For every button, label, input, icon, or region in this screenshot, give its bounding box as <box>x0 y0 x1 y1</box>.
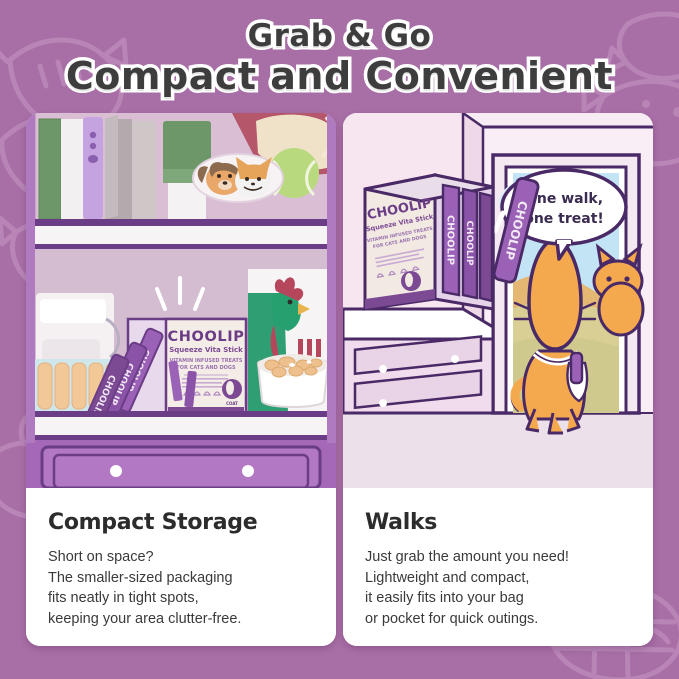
kitchen-shelf-scene: CHOOLIP Squeeze Vita Stick VITAMIN INFUS… <box>26 113 336 488</box>
headline-line-2: Compact and Convenient <box>0 54 679 98</box>
doorway-walk-scene: One walk, one treat! <box>343 113 653 488</box>
card-body: Short on space? The smaller-sized packag… <box>48 547 314 629</box>
svg-text:CHOOLIP: CHOOLIP <box>464 220 474 266</box>
card-title: Compact Storage <box>48 510 314 535</box>
headline: Grab & Go Compact and Convenient <box>0 18 679 98</box>
svg-text:CHOOLIP: CHOOLIP <box>168 329 245 345</box>
svg-text:COAT: COAT <box>226 401 238 406</box>
card-body: Just grab the amount you need! Lightweig… <box>365 547 631 629</box>
caption-compact-storage: Compact Storage Short on space? The smal… <box>26 488 336 646</box>
svg-text:FOR CATS AND DOGS: FOR CATS AND DOGS <box>176 365 236 371</box>
card-walks: One walk, one treat! <box>343 113 653 646</box>
svg-text:VITAMIN INFUSED TREATS: VITAMIN INFUSED TREATS <box>170 358 243 364</box>
svg-text:Squeeze Vita Stick: Squeeze Vita Stick <box>169 346 243 354</box>
headline-line-1: Grab & Go <box>0 18 679 54</box>
caption-walks: Walks Just grab the amount you need! Lig… <box>343 488 653 646</box>
svg-text:CHOOLIP: CHOOLIP <box>445 215 456 265</box>
poster-stage: Grab & Go Compact and Convenient <box>0 0 679 679</box>
card-title: Walks <box>365 510 631 535</box>
svg-text:one treat!: one treat! <box>524 211 604 227</box>
card-compact-storage: CHOOLIP Squeeze Vita Stick VITAMIN INFUS… <box>26 113 336 646</box>
